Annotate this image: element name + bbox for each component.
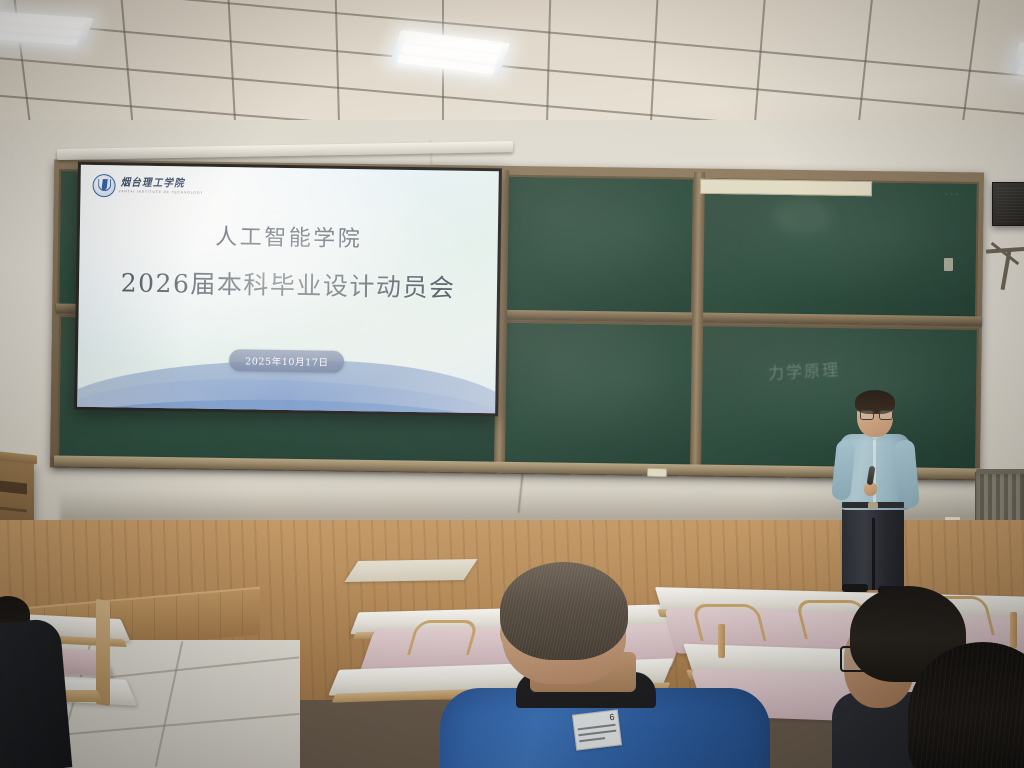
attendee-body	[0, 618, 72, 768]
wall-mount-bracket	[986, 248, 1024, 292]
blackboard-panel-upper-right: ···	[699, 178, 979, 322]
presenter	[836, 392, 956, 597]
presentation-slide: 烟台理工学院 YANTAI INSTITUTE OF TECHNOLOGY 人工…	[77, 165, 499, 414]
university-logo: 烟台理工学院 YANTAI INSTITUTE OF TECHNOLOGY	[92, 174, 201, 199]
presenter-glasses	[860, 410, 891, 418]
attendee-hair	[500, 562, 628, 660]
back-label-tag: 6	[572, 709, 622, 750]
left-edge-attendee	[0, 596, 88, 768]
blackboard-clip	[944, 258, 953, 271]
logo-english-name: YANTAI INSTITUTE OF TECHNOLOGY	[118, 190, 203, 195]
wall-speaker	[992, 182, 1024, 226]
slide-title-line1: 人工智能学院	[80, 217, 498, 256]
long-hair-attendee	[930, 648, 1024, 768]
presenter-legs	[842, 502, 904, 590]
slide-title-block: 人工智能学院 2026届本科毕业设计动员会	[79, 217, 498, 306]
presenter-head	[857, 394, 893, 437]
classroom-photo: ··· 力学原理 烟台理工学院 YANTAI INSTITUTE OF TECH…	[0, 0, 1024, 768]
slide-title-line2: 2026届本科毕业设计动员会	[79, 263, 498, 306]
projector-screen: 烟台理工学院 YANTAI INSTITUTE OF TECHNOLOGY 人工…	[74, 162, 502, 417]
blackboard-panel-middle-upper	[501, 175, 695, 322]
blackboard-panel-middle-lower	[501, 321, 695, 470]
chalk-piece	[647, 468, 667, 478]
chalk-note: 力学原理	[767, 356, 840, 384]
desk-edge	[96, 599, 110, 706]
chalk-note: ···	[945, 189, 961, 201]
university-crest-icon	[92, 174, 115, 197]
slide-date-badge: 2025年10月17日	[229, 349, 345, 373]
logo-chinese-name: 烟台理工学院	[121, 178, 202, 190]
paper-strip	[700, 179, 872, 196]
presenter-belt-buckle	[868, 502, 878, 509]
blue-jacket-attendee: 6	[424, 560, 774, 768]
